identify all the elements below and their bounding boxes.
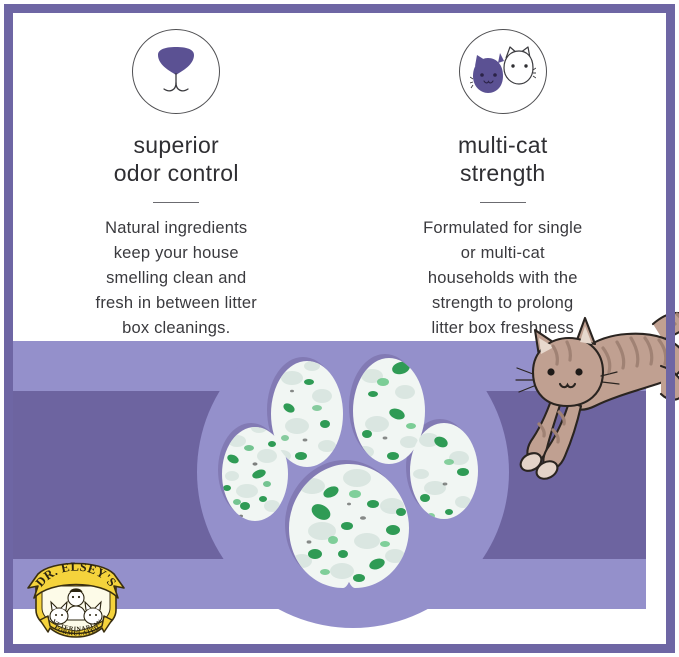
paw-print-graphic xyxy=(197,316,509,628)
feature-title-line: odor control xyxy=(114,159,239,187)
dr-elseys-logo: DR. ELSEY'S VETERINARIAN xyxy=(22,548,130,640)
feature-superior-odor-control: superior odor control Natural ingredient… xyxy=(13,13,340,341)
feature-body-line: box cleanings. xyxy=(96,316,257,341)
stretching-cat-illustration xyxy=(503,296,679,496)
feature-body-line: households with the xyxy=(423,266,582,291)
feature-body-line: smelling clean and xyxy=(96,266,257,291)
feature-title: superior odor control xyxy=(114,131,239,187)
feature-body-line: Formulated for single xyxy=(423,216,582,241)
feature-body-line: keep your house xyxy=(96,241,257,266)
feature-title: multi-cat strength xyxy=(458,131,548,187)
two-cats-icon xyxy=(459,29,547,114)
infographic-canvas: superior odor control Natural ingredient… xyxy=(0,0,679,657)
feature-multi-cat-strength: multi-cat strength Formulated for single… xyxy=(340,13,667,341)
feature-title-line: strength xyxy=(458,159,548,187)
feature-title-line: multi-cat xyxy=(458,131,548,159)
title-divider xyxy=(153,202,199,203)
feature-body-line: Natural ingredients xyxy=(96,216,257,241)
feature-title-line: superior xyxy=(114,131,239,159)
cat-nose-icon xyxy=(132,29,220,114)
feature-body-line: fresh in between litter xyxy=(96,291,257,316)
title-divider xyxy=(480,202,526,203)
feature-body: Natural ingredients keep your house smel… xyxy=(96,216,257,341)
feature-panel: superior odor control Natural ingredient… xyxy=(13,13,666,341)
feature-body-line: or multi-cat xyxy=(423,241,582,266)
